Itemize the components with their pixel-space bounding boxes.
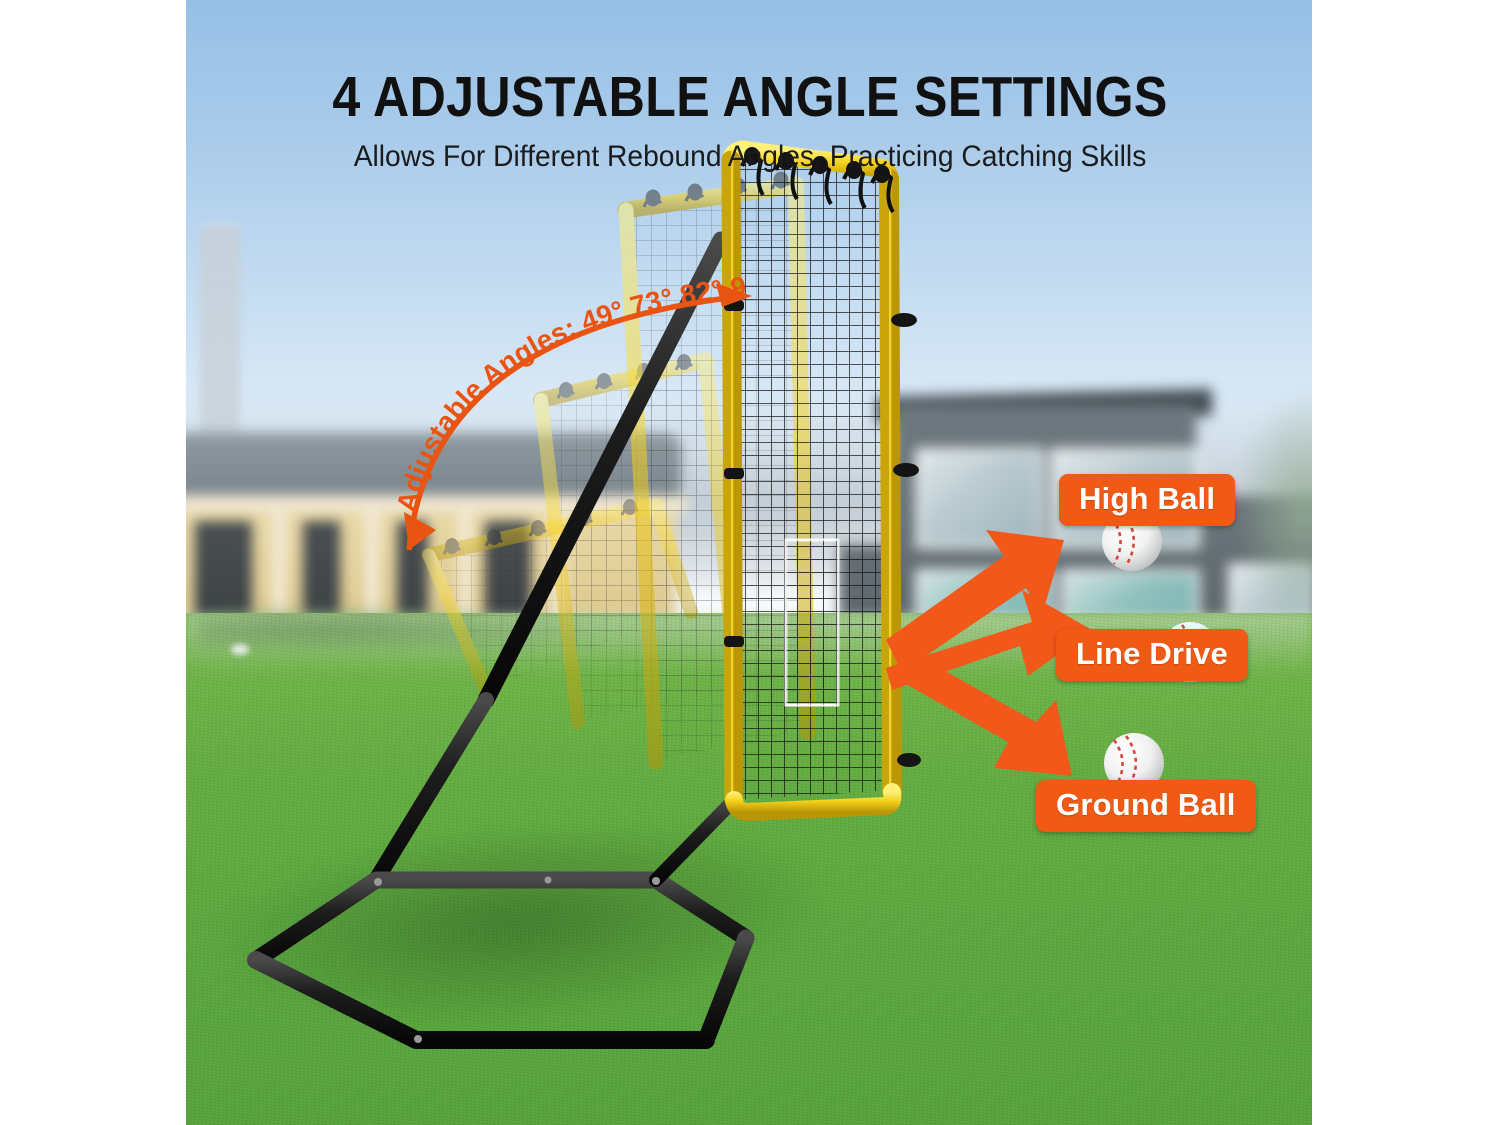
frame-right-upright [889, 179, 892, 792]
base-rail-back [256, 880, 746, 960]
base-rail-right [706, 938, 746, 1040]
base-hardware [374, 877, 660, 1044]
target-zone [786, 540, 838, 705]
main-net-assembly [724, 147, 921, 812]
product-photo [186, 0, 1312, 1125]
callout-ground-ball[interactable]: Ground Ball [1036, 780, 1256, 832]
base-connector [656, 800, 734, 880]
rebounder-illustration [186, 0, 1312, 1125]
callout-line-drive[interactable]: Line Drive [1056, 629, 1248, 681]
frame-left-upright [731, 160, 734, 800]
callout-high-ball[interactable]: High Ball [1059, 474, 1235, 526]
product-feature-image: Adjustable Angles: 49° 73° 82° 90° 4 ADJ… [0, 0, 1500, 1125]
base-rail-front [256, 960, 706, 1040]
